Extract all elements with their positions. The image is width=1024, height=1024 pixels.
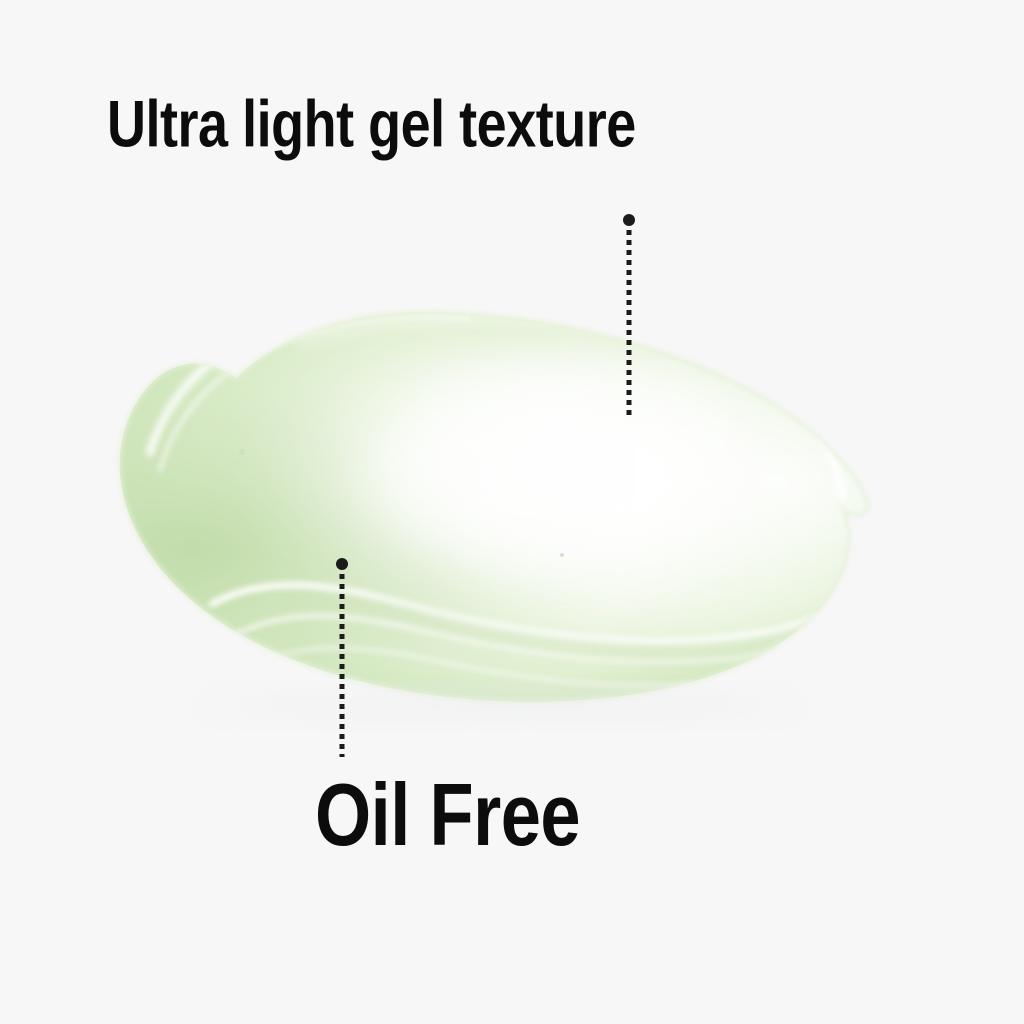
gel-center-highlight-inner [375, 370, 745, 570]
callout-lower-label: Oil Free [315, 772, 580, 860]
callout-lower-dotted-line [340, 564, 345, 757]
gel-bottom-band [150, 618, 800, 760]
page-title: Ultra light gel texture [107, 92, 636, 158]
gel-body-group [100, 295, 890, 760]
gel-center-highlight [240, 330, 800, 630]
gel-base-fill [100, 295, 890, 720]
gel-fold-streak-2 [236, 616, 846, 662]
gel-right-fade [100, 295, 890, 720]
gel-bottom-lip [120, 596, 880, 740]
gel-speck-2 [239, 449, 245, 455]
gel-right-sheen [800, 400, 842, 496]
callout-upper-dotted-line [627, 220, 632, 416]
callout-upper-anchor-dot-icon [623, 214, 635, 226]
gel-right-sheen-2 [812, 430, 844, 500]
gel-fold-shadow [228, 602, 850, 654]
gel-outer-edge [120, 312, 868, 702]
gel-left-wash [100, 295, 890, 720]
gel-fold-streak-1 [212, 585, 852, 641]
gel-rim-highlight-upper-left [150, 304, 452, 452]
gel-speck-1 [560, 553, 564, 557]
gel-cast-shadow [200, 692, 800, 720]
product-graphic-canvas: Ultra light gel texture Oil Free [0, 0, 1024, 1024]
gel-fold-streak-3 [264, 648, 694, 686]
callout-lower-anchor-dot-icon [336, 558, 348, 570]
gel-top-sheen [300, 317, 790, 380]
gel-rim-highlight-upper-left-2 [160, 316, 470, 470]
